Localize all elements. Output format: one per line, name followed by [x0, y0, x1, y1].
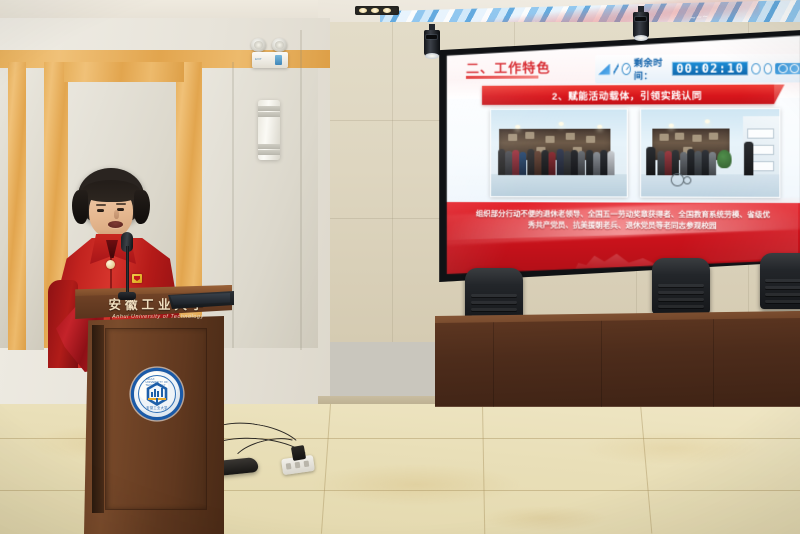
emblem-ring-text-en: ANHUI UNIVERSITY OF TECHNOLOGY [146, 378, 169, 387]
circle-icon[interactable] [763, 63, 772, 74]
chair-backrest [652, 258, 710, 314]
door-frame-rail [64, 62, 184, 82]
laptop-screen [170, 293, 230, 305]
nose [114, 210, 119, 219]
led-screen[interactable]: 二、工作特色 剩余时间： 00:02:10 2、赋能活动载体，引领实践认同 [444, 35, 800, 276]
hair-fringe [82, 180, 140, 202]
brooch [106, 260, 115, 269]
eyebrow [96, 204, 106, 206]
party-emblem-pin [132, 274, 142, 283]
emergency-lamp [251, 38, 266, 52]
eye [97, 209, 104, 212]
flag-icon [598, 64, 610, 75]
hair-side [134, 190, 150, 224]
conference-hall-photo: ~~~ ~~~ EXIT 二、工作特色 [0, 0, 800, 534]
slide-heading: 二、工作特色 [466, 57, 551, 77]
slide-section-label: 2、赋能活动载体，引领实践认同 [552, 87, 702, 102]
door-frame-post [8, 62, 26, 350]
microphone-base [118, 292, 136, 300]
podium-edge-stripe [92, 325, 104, 513]
plug [291, 445, 306, 461]
clock-icon [621, 63, 630, 75]
podium-name-en: Anhui University of Technology [94, 314, 222, 320]
slide-caption-line2: 秀共产党员、抗美援朝老兵、退休党员等老同志参观校园 [470, 220, 776, 233]
slide-caption: 组织部分行动不便的退休老领导、全国五一劳动奖章获得者、全国教育系统劳模、省级优 … [470, 208, 776, 232]
spotlight [669, 123, 674, 127]
microphone-stem [126, 246, 129, 298]
guide-person [738, 141, 769, 176]
countdown-timer[interactable]: 剩余时间： 00:02:10 [595, 54, 800, 84]
recessed-spotlight [355, 6, 399, 15]
emblem-text-cn: 安徽工业大学 [134, 405, 180, 410]
emergency-light-label: EXIT [255, 57, 262, 61]
emergency-lamp [272, 38, 287, 52]
slide-caption-line1: 组织部分行动不便的退休老领导、全国五一劳动奖章获得者、全国教育系统劳模、省级优 [470, 208, 776, 221]
podium-front-panel [106, 329, 206, 509]
chair-backrest [760, 253, 800, 309]
chair [760, 253, 800, 309]
badge-icon[interactable] [775, 62, 800, 73]
chair [652, 258, 710, 314]
timer-label: 剩余时间： [634, 56, 669, 83]
university-emblem: ANHUI UNIVERSITY OF TECHNOLOGY 安徽工业大学 [134, 371, 180, 417]
pendant-speaker [633, 12, 649, 38]
mouth [108, 221, 123, 228]
conference-table [435, 311, 800, 407]
wheelchair-icon [671, 170, 692, 186]
wall-panel-joint [300, 30, 302, 350]
eyebrow [116, 203, 126, 205]
people-group [498, 141, 620, 176]
circle-icon[interactable] [751, 63, 760, 74]
wall-sconce [258, 100, 280, 160]
slash-icon [613, 63, 618, 75]
slide-section-band: 2、赋能活动载体，引领实践认同 [482, 85, 774, 105]
timer-value: 00:02:10 [672, 61, 748, 76]
pendant-speaker [424, 30, 440, 56]
door-panel [26, 68, 44, 350]
hair-side [72, 190, 88, 224]
presentation-slide: 二、工作特色 剩余时间： 00:02:10 2、赋能活动载体，引领实践认同 [444, 35, 800, 276]
emergency-light: EXIT [252, 52, 288, 68]
emergency-light-indicator [275, 55, 282, 65]
slide-heading-underline [466, 76, 538, 79]
spotlight [559, 122, 564, 126]
wall-seam [392, 22, 393, 342]
slide-photo-group [490, 108, 628, 197]
